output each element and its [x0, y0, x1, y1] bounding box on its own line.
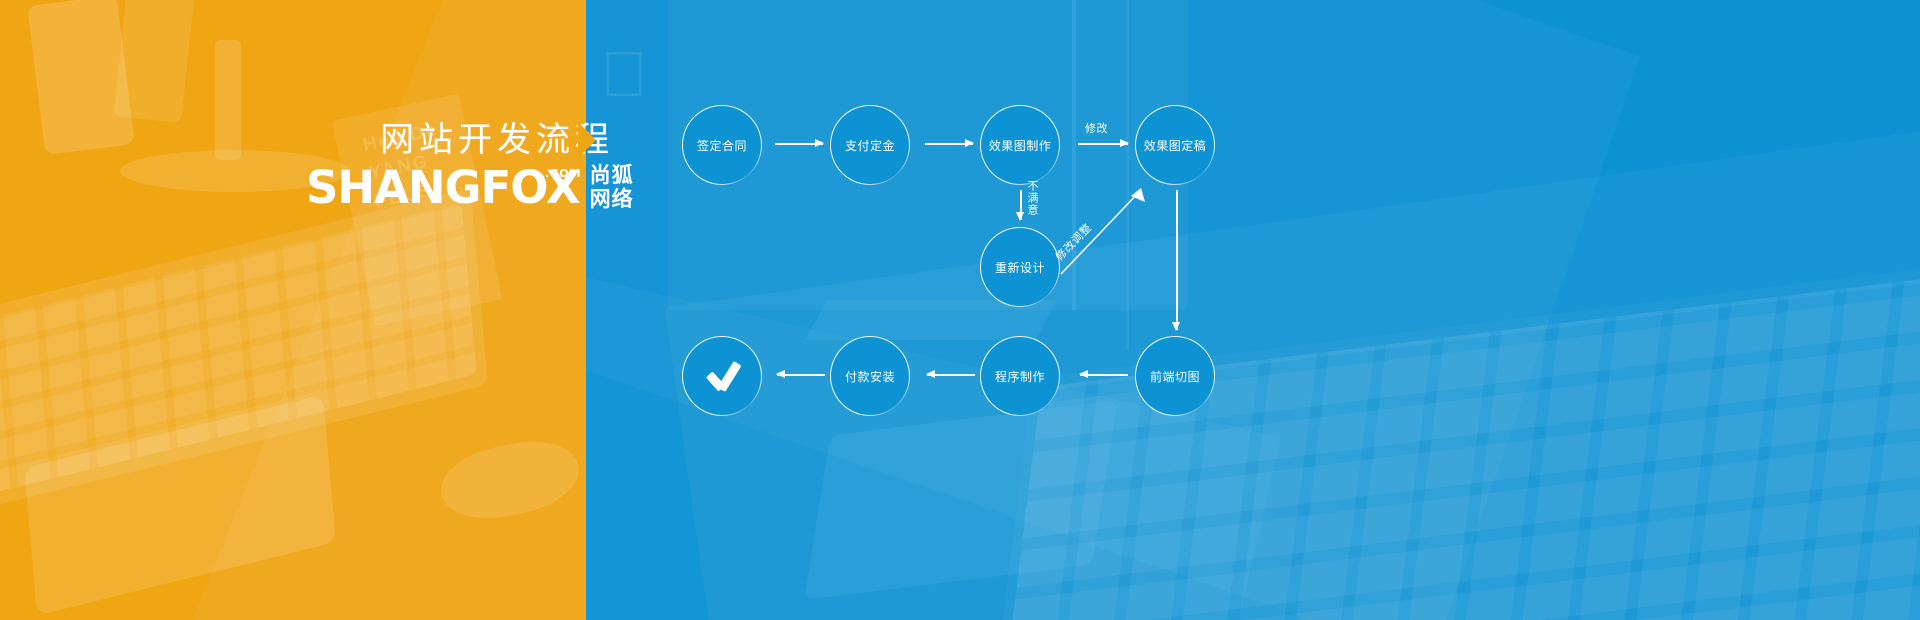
flow-node-label: 付款安装: [845, 368, 895, 385]
flow-arrow-contract-to-deposit: [775, 143, 823, 145]
flow-arrow-deposit-to-mockup: [925, 143, 973, 145]
banner-root: Hea De YANG FEUS  网站开发流程 SHANGFOX .COM …: [0, 0, 1920, 620]
flow-node-pay-deposit[interactable]: 支付定金: [830, 105, 910, 185]
flow-node-pay-install[interactable]: 付款安装: [830, 336, 910, 416]
flow-node-frontend-slice[interactable]: 前端切图: [1135, 336, 1215, 416]
flow-arrow-program-to-pay: [927, 374, 975, 376]
flow-node-label: 效果图制作: [989, 137, 1052, 154]
flow-edge-label-modify: 修改: [1085, 120, 1108, 136]
flow-node-sign-contract[interactable]: 签定合同: [682, 105, 762, 185]
flow-arrow-pay-to-complete: [777, 374, 825, 376]
check-icon: [705, 359, 739, 393]
flow-arrow-mockup-to-final: [1078, 143, 1128, 145]
flow-node-mockup-design[interactable]: 效果图制作: [980, 105, 1060, 185]
flow-node-mockup-final[interactable]: 效果图定稿: [1135, 105, 1215, 185]
flow-arrow-final-to-slice: [1176, 190, 1178, 330]
flow-node-complete[interactable]: [682, 336, 762, 416]
flow-arrow-diag-svg: [1055, 180, 1155, 280]
flow-node-label: 前端切图: [1150, 368, 1200, 385]
flow-node-program-build[interactable]: 程序制作: [980, 336, 1060, 416]
flow-node-label: 效果图定稿: [1144, 137, 1207, 154]
flow-node-label: 支付定金: [845, 137, 895, 154]
flow-arrow-mockup-to-redesign: [1020, 190, 1022, 220]
flow-node-label: 程序制作: [995, 368, 1045, 385]
flow-arrow-slice-to-program: [1080, 374, 1128, 376]
flowchart: 签定合同 支付定金 效果图制作 效果图定稿 重新设计 前端切图 程序制作 付款安…: [0, 0, 1920, 620]
panel-divider-arrow-icon: [578, 122, 596, 158]
flow-node-label: 签定合同: [697, 137, 747, 154]
flow-edge-label-not-satisfied: 不满意: [1024, 180, 1040, 216]
flow-node-redesign[interactable]: 重新设计: [980, 227, 1060, 307]
flow-node-label: 重新设计: [995, 259, 1045, 276]
